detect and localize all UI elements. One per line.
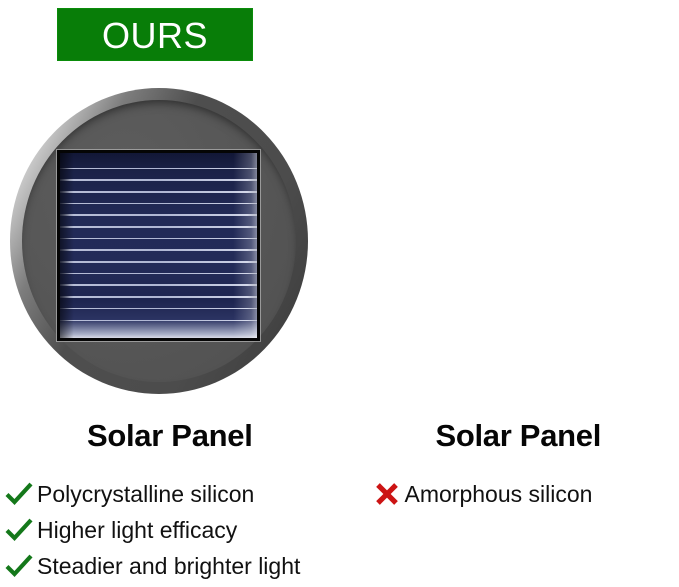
busbar-line — [60, 179, 257, 181]
busbar-line — [60, 261, 257, 263]
feature-item: Steadier and brighter light — [0, 548, 340, 584]
feature-list-ours: Polycrystalline siliconHigher light effi… — [0, 476, 340, 584]
check-icon — [4, 553, 34, 579]
busbar-group — [60, 153, 257, 338]
feature-label: Polycrystalline silicon — [37, 481, 254, 508]
busbar-line — [60, 296, 257, 298]
comparison-column-ours: OURS Solar Panel Polycrystalline silicon… — [0, 0, 340, 587]
cross-icon — [372, 481, 402, 507]
panel-frame-ours — [57, 150, 260, 341]
busbar-line — [60, 191, 257, 193]
panel-title-ours: Solar Panel — [0, 418, 340, 454]
feature-label: Steadier and brighter light — [37, 553, 300, 580]
feature-item: Amorphous silicon — [340, 476, 679, 512]
polycrystalline-cell — [60, 153, 257, 338]
busbar-line — [60, 249, 257, 251]
feature-list-others: Amorphous silicon — [340, 476, 679, 512]
busbar-line — [60, 168, 257, 170]
product-comparison: OURS Solar Panel Polycrystalline silicon… — [0, 0, 679, 587]
busbar-line — [60, 320, 257, 322]
badge-ours: OURS — [57, 8, 253, 61]
feature-label: Amorphous silicon — [405, 481, 593, 508]
panel-title-others: Solar Panel — [349, 418, 679, 454]
busbar-line — [60, 226, 257, 228]
check-icon — [4, 481, 34, 507]
busbar-line — [60, 238, 257, 240]
feature-item: Higher light efficacy — [0, 512, 340, 548]
check-icon — [4, 517, 34, 543]
busbar-line — [60, 284, 257, 286]
feature-label: Higher light efficacy — [37, 517, 237, 544]
comparison-column-others: OTHERS Solar Panel Amorphous silicon — [340, 0, 679, 587]
busbar-line — [60, 214, 257, 216]
busbar-line — [60, 273, 257, 275]
busbar-line — [60, 308, 257, 310]
busbar-line — [60, 203, 257, 205]
solar-panel-disc-ours — [10, 88, 308, 394]
feature-item: Polycrystalline silicon — [0, 476, 340, 512]
